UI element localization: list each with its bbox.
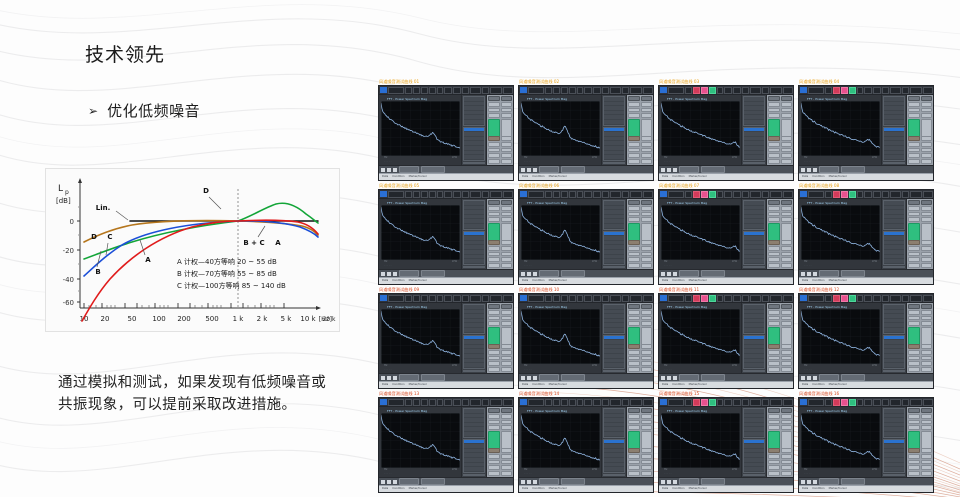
- keypad-key[interactable]: [781, 223, 793, 241]
- keypad-key[interactable]: [501, 310, 513, 315]
- spectrum-plot-panel[interactable]: FFT - Power Spectrum Mag HzkHz · · · · ·: [659, 303, 741, 373]
- keypad-key[interactable]: [501, 142, 513, 147]
- keypad-key[interactable]: [908, 310, 920, 315]
- measurement-window[interactable]: FFT - Power Spectrum Mag HzkHz · · · · ·: [658, 397, 794, 493]
- toolbar-button[interactable]: [437, 191, 443, 198]
- toolbar-button[interactable]: [643, 87, 653, 94]
- stop-button[interactable]: [801, 272, 805, 276]
- settings-group-top[interactable]: [883, 200, 905, 230]
- keypad-key[interactable]: [628, 102, 640, 107]
- toolbar-button[interactable]: [693, 295, 700, 302]
- toolbar-button[interactable]: [709, 87, 716, 94]
- keypad-key[interactable]: [908, 460, 920, 465]
- tab-memory[interactable]: [841, 478, 865, 485]
- toolbar-button[interactable]: [668, 399, 684, 406]
- keypad-key[interactable]: [781, 153, 793, 158]
- window-toolbar[interactable]: [519, 190, 653, 199]
- keypad-row[interactable]: [488, 206, 512, 211]
- keypad-key[interactable]: [641, 240, 653, 245]
- tab-memory[interactable]: [701, 270, 725, 277]
- toolbar-button[interactable]: [610, 399, 621, 406]
- keypad-key[interactable]: [921, 367, 933, 372]
- toolbar-button[interactable]: [528, 399, 544, 406]
- keypad-key[interactable]: [641, 465, 653, 470]
- window-transport-bar[interactable]: [519, 373, 653, 381]
- keypad-row[interactable]: [488, 119, 512, 135]
- keypad-row[interactable]: [488, 263, 512, 268]
- toolbar-button[interactable]: [857, 295, 863, 302]
- window-transport-bar[interactable]: [799, 373, 933, 381]
- keypad-row[interactable]: [488, 361, 512, 366]
- settings-group-top[interactable]: [463, 304, 485, 334]
- keypad-row[interactable]: [908, 252, 932, 257]
- control-row[interactable]: [604, 259, 624, 264]
- control-row[interactable]: [744, 432, 764, 437]
- keypad-key[interactable]: [501, 206, 513, 211]
- keypad-row[interactable]: [768, 159, 792, 164]
- keypad-row[interactable]: [908, 367, 932, 372]
- window-transport-bar[interactable]: [379, 373, 513, 381]
- plot-area[interactable]: [381, 101, 460, 156]
- stop-button[interactable]: [521, 272, 525, 276]
- keypad-key[interactable]: [501, 257, 513, 262]
- toolbar-button[interactable]: [429, 399, 436, 406]
- control-row[interactable]: [744, 259, 764, 264]
- keypad-key[interactable]: [768, 263, 780, 268]
- keypad-panel[interactable]: [486, 407, 513, 477]
- tab-memory[interactable]: [561, 478, 585, 485]
- keypad-panel[interactable]: [626, 95, 653, 165]
- keypad-key[interactable]: [908, 142, 920, 147]
- window-toolbar[interactable]: [519, 294, 653, 303]
- keypad-key[interactable]: [908, 257, 920, 262]
- toolbar-button[interactable]: [701, 399, 708, 406]
- keypad-key[interactable]: [501, 350, 513, 355]
- window-transport-bar[interactable]: [379, 165, 513, 173]
- window-transport-bar[interactable]: [659, 477, 793, 485]
- control-panel[interactable]: [461, 303, 486, 373]
- toolbar-button[interactable]: [602, 295, 609, 302]
- toolbar-button[interactable]: [577, 191, 583, 198]
- keypad-panel[interactable]: [486, 95, 513, 165]
- toolbar-button[interactable]: [577, 399, 583, 406]
- control-row[interactable]: [744, 120, 764, 125]
- keypad-row[interactable]: [488, 367, 512, 372]
- control-panel[interactable]: [601, 199, 626, 269]
- keypad-key[interactable]: [781, 240, 793, 245]
- toolbar-button[interactable]: [388, 399, 404, 406]
- toolbar-button[interactable]: [902, 87, 909, 94]
- tab-memory[interactable]: [841, 166, 865, 173]
- record-button[interactable]: [673, 480, 677, 484]
- measurement-window[interactable]: FFT - Power Spectrum Mag HzkHz · · · · ·: [378, 293, 514, 389]
- spectrum-plot-panel[interactable]: FFT - Power Spectrum Mag HzkHz · · · · ·: [379, 199, 461, 269]
- spectrum-plot-panel[interactable]: FFT - Power Spectrum Mag HzkHz · · · · ·: [379, 303, 461, 373]
- keypad-key[interactable]: [501, 361, 513, 366]
- keypad-key[interactable]: [768, 246, 780, 251]
- keypad-key[interactable]: [921, 316, 933, 321]
- keypad-key[interactable]: [641, 159, 653, 164]
- keypad-key[interactable]: [628, 425, 640, 430]
- toolbar-button[interactable]: [470, 191, 481, 198]
- keypad-key[interactable]: [628, 142, 640, 147]
- record-button[interactable]: [533, 376, 537, 380]
- keypad-key[interactable]: [768, 240, 780, 245]
- toolbar-button[interactable]: [561, 295, 568, 302]
- keypad-row[interactable]: [628, 367, 652, 372]
- run-button[interactable]: [628, 119, 640, 137]
- tab-start[interactable]: [819, 478, 839, 485]
- toolbar-button[interactable]: [923, 191, 933, 198]
- keypad-key[interactable]: [921, 96, 933, 101]
- keypad-key[interactable]: [488, 465, 500, 470]
- gallery-item[interactable]: 风道噪音测试曲线 11 FFT - Power Spectrum Mag: [658, 286, 792, 388]
- keypad-row[interactable]: [768, 304, 792, 309]
- keypad-key[interactable]: [501, 200, 513, 205]
- tab-start[interactable]: [679, 166, 699, 173]
- toolbar-button[interactable]: [733, 295, 741, 302]
- toolbar-button[interactable]: [770, 295, 782, 302]
- toolbar-button[interactable]: [388, 87, 404, 94]
- toolbar-button[interactable]: [750, 295, 761, 302]
- keypad-key[interactable]: [781, 96, 793, 101]
- keypad-row[interactable]: [908, 460, 932, 465]
- toolbar-button[interactable]: [733, 87, 741, 94]
- keypad-row[interactable]: [768, 102, 792, 107]
- window-transport-bar[interactable]: [519, 165, 653, 173]
- plot-area[interactable]: [381, 413, 460, 468]
- keypad-panel[interactable]: [626, 407, 653, 477]
- tab-memory[interactable]: [561, 166, 585, 173]
- keypad-key[interactable]: [908, 367, 920, 372]
- keypad-key[interactable]: [641, 223, 653, 241]
- tab-memory[interactable]: [841, 374, 865, 381]
- stop-button[interactable]: [661, 168, 665, 172]
- run-button[interactable]: [488, 223, 500, 241]
- stop-button[interactable]: [661, 480, 665, 484]
- tab-start[interactable]: [539, 166, 559, 173]
- keypad-key[interactable]: [628, 108, 640, 113]
- keypad-key[interactable]: [501, 316, 513, 321]
- toolbar-button[interactable]: [910, 191, 922, 198]
- toolbar-button[interactable]: [388, 191, 404, 198]
- toolbar-button[interactable]: [717, 191, 723, 198]
- keypad-key[interactable]: [768, 304, 780, 309]
- tab-memory[interactable]: [561, 374, 585, 381]
- toolbar-button[interactable]: [429, 295, 436, 302]
- keypad-key[interactable]: [488, 113, 500, 118]
- keypad-key[interactable]: [921, 119, 933, 137]
- keypad-key[interactable]: [501, 108, 513, 113]
- keypad-key[interactable]: [908, 108, 920, 113]
- keypad-key[interactable]: [628, 367, 640, 372]
- toolbar-button[interactable]: [429, 191, 436, 198]
- toolbar-button[interactable]: [864, 87, 872, 94]
- keypad-row[interactable]: [628, 153, 652, 158]
- keypad-key[interactable]: [488, 240, 500, 245]
- settings-group-top[interactable]: [463, 408, 485, 438]
- keypad-key[interactable]: [781, 217, 793, 222]
- keypad-key[interactable]: [781, 246, 793, 251]
- keypad-key[interactable]: [488, 257, 500, 262]
- control-row[interactable]: [464, 224, 484, 229]
- pause-button[interactable]: [387, 480, 391, 484]
- keypad-row[interactable]: [768, 206, 792, 211]
- toolbar-button[interactable]: [490, 399, 502, 406]
- keypad-key[interactable]: [768, 367, 780, 372]
- keypad-key[interactable]: [488, 108, 500, 113]
- keypad-key[interactable]: [921, 217, 933, 222]
- stop-button[interactable]: [661, 376, 665, 380]
- keypad-key[interactable]: [781, 200, 793, 205]
- toolbar-button[interactable]: [685, 399, 692, 406]
- keypad-key[interactable]: [641, 327, 653, 345]
- settings-group-top[interactable]: [743, 304, 765, 334]
- control-row[interactable]: [604, 224, 624, 229]
- toolbar-button[interactable]: [437, 399, 443, 406]
- keypad-key[interactable]: [628, 465, 640, 470]
- toolbar-button[interactable]: [841, 399, 848, 406]
- keypad-key[interactable]: [641, 119, 653, 137]
- toolbar-button[interactable]: [413, 295, 420, 302]
- toolbar-button[interactable]: [783, 295, 793, 302]
- keypad-row[interactable]: [908, 200, 932, 205]
- keypad-key[interactable]: [641, 361, 653, 366]
- keypad-panel[interactable]: [486, 199, 513, 269]
- keypad-key[interactable]: [488, 246, 500, 251]
- toolbar-button[interactable]: [437, 295, 443, 302]
- toolbar-button[interactable]: [528, 191, 544, 198]
- gallery-item[interactable]: 风道噪音测试曲线 10 FFT - Power Spectrum Mag: [518, 286, 652, 388]
- keypad-row[interactable]: [488, 344, 512, 349]
- keypad-key[interactable]: [641, 257, 653, 262]
- measurement-window[interactable]: FFT - Power Spectrum Mag HzkHz · · · · ·: [518, 397, 654, 493]
- keypad-key[interactable]: [488, 356, 500, 361]
- keypad-row[interactable]: [628, 108, 652, 113]
- keypad-key[interactable]: [908, 246, 920, 251]
- toolbar-button[interactable]: [724, 399, 732, 406]
- keypad-row[interactable]: [628, 240, 652, 245]
- keypad-key[interactable]: [921, 153, 933, 158]
- toolbar-button[interactable]: [808, 191, 824, 198]
- keypad-row[interactable]: [628, 471, 652, 476]
- keypad-key[interactable]: [501, 217, 513, 222]
- toolbar-button[interactable]: [733, 191, 741, 198]
- toolbar-button[interactable]: [742, 399, 749, 406]
- window-toolbar[interactable]: [659, 398, 793, 407]
- keypad-row[interactable]: [908, 108, 932, 113]
- keypad-key[interactable]: [908, 102, 920, 107]
- toolbar-button[interactable]: [561, 191, 568, 198]
- keypad-key[interactable]: [501, 321, 513, 326]
- spectrum-plot-panel[interactable]: FFT - Power Spectrum Mag HzkHz · · · · ·: [659, 199, 741, 269]
- keypad-key[interactable]: [488, 361, 500, 366]
- pause-button[interactable]: [807, 376, 811, 380]
- toolbar-button[interactable]: [882, 191, 889, 198]
- keypad-key[interactable]: [641, 153, 653, 158]
- gallery-item[interactable]: 风道噪音测试曲线 16 FFT - Power Spectrum Mag: [798, 390, 932, 492]
- toolbar-button[interactable]: [610, 191, 621, 198]
- toolbar-button[interactable]: [470, 87, 481, 94]
- window-toolbar[interactable]: [799, 190, 933, 199]
- window-transport-bar[interactable]: [659, 373, 793, 381]
- measurement-window[interactable]: FFT - Power Spectrum Mag HzkHz · · · · ·: [798, 189, 934, 285]
- keypad-row[interactable]: [628, 159, 652, 164]
- keypad-key[interactable]: [501, 425, 513, 430]
- keypad-key[interactable]: [908, 96, 920, 101]
- control-panel[interactable]: [461, 95, 486, 165]
- toolbar-button[interactable]: [584, 191, 592, 198]
- keypad-key[interactable]: [488, 448, 500, 453]
- control-row[interactable]: [464, 467, 484, 472]
- toolbar-button[interactable]: [388, 295, 404, 302]
- keypad-row[interactable]: [488, 102, 512, 107]
- keypad-row[interactable]: [628, 246, 652, 251]
- toolbar-button[interactable]: [444, 191, 452, 198]
- keypad-key[interactable]: [628, 240, 640, 245]
- toolbar-button[interactable]: [561, 399, 568, 406]
- keypad-key[interactable]: [628, 321, 640, 326]
- run-button[interactable]: [768, 431, 780, 449]
- keypad-key[interactable]: [781, 257, 793, 262]
- keypad-key[interactable]: [921, 240, 933, 245]
- tab-memory[interactable]: [561, 270, 585, 277]
- keypad-row[interactable]: [628, 119, 652, 135]
- keypad-row[interactable]: [768, 344, 792, 349]
- keypad-key[interactable]: [641, 350, 653, 355]
- keypad-row[interactable]: [768, 356, 792, 361]
- keypad-key[interactable]: [628, 310, 640, 315]
- toolbar-button[interactable]: [470, 399, 481, 406]
- keypad-row[interactable]: [488, 200, 512, 205]
- toolbar-button[interactable]: [622, 191, 629, 198]
- toolbar-button[interactable]: [490, 87, 502, 94]
- keypad-key[interactable]: [908, 263, 920, 268]
- pause-button[interactable]: [387, 376, 391, 380]
- toolbar-button[interactable]: [783, 399, 793, 406]
- keypad-key[interactable]: [908, 414, 920, 419]
- spectrum-plot-panel[interactable]: FFT - Power Spectrum Mag HzkHz · · · · ·: [519, 95, 601, 165]
- toolbar-button[interactable]: [593, 191, 601, 198]
- toolbar-button[interactable]: [602, 191, 609, 198]
- keypad-key[interactable]: [488, 200, 500, 205]
- keypad-row[interactable]: [768, 119, 792, 135]
- window-toolbar[interactable]: [379, 86, 513, 95]
- keypad-row[interactable]: [628, 136, 652, 141]
- toolbar-button[interactable]: [762, 399, 769, 406]
- toolbar-button[interactable]: [569, 295, 576, 302]
- keypad-key[interactable]: [628, 217, 640, 222]
- toolbar-button[interactable]: [577, 87, 583, 94]
- toolbar-button[interactable]: [890, 295, 901, 302]
- keypad-key[interactable]: [768, 310, 780, 315]
- keypad-key[interactable]: [488, 321, 500, 326]
- keypad-row[interactable]: [908, 420, 932, 425]
- settings-group-mid[interactable]: [743, 439, 765, 473]
- keypad-key[interactable]: [921, 257, 933, 262]
- control-panel[interactable]: [741, 95, 766, 165]
- keypad-key[interactable]: [908, 471, 920, 476]
- keypad-key[interactable]: [768, 356, 780, 361]
- keypad-key[interactable]: [781, 420, 793, 425]
- toolbar-button[interactable]: [825, 87, 832, 94]
- keypad-key[interactable]: [781, 344, 793, 349]
- keypad-key[interactable]: [628, 344, 640, 349]
- keypad-row[interactable]: [488, 108, 512, 113]
- keypad-key[interactable]: [908, 361, 920, 366]
- keypad-row[interactable]: [488, 304, 512, 309]
- toolbar-button[interactable]: [437, 87, 443, 94]
- control-row[interactable]: [604, 120, 624, 125]
- keypad-key[interactable]: [641, 108, 653, 113]
- keypad-key[interactable]: [488, 408, 500, 413]
- toolbar-button[interactable]: [701, 295, 708, 302]
- keypad-key[interactable]: [781, 252, 793, 257]
- toolbar-button[interactable]: [453, 399, 461, 406]
- keypad-key[interactable]: [641, 425, 653, 430]
- keypad-key[interactable]: [781, 361, 793, 366]
- measurement-window[interactable]: FFT - Power Spectrum Mag HzkHz · · · · ·: [798, 293, 934, 389]
- toolbar-button[interactable]: [693, 399, 700, 406]
- toolbar-button[interactable]: [482, 191, 489, 198]
- keypad-key[interactable]: [501, 460, 513, 465]
- keypad-key[interactable]: [641, 252, 653, 257]
- stop-button[interactable]: [521, 480, 525, 484]
- toolbar-button[interactable]: [622, 295, 629, 302]
- keypad-key[interactable]: [768, 113, 780, 118]
- control-row[interactable]: [464, 120, 484, 125]
- toolbar-button[interactable]: [873, 87, 881, 94]
- keypad-key[interactable]: [768, 142, 780, 147]
- keypad-key[interactable]: [781, 304, 793, 309]
- keypad-key[interactable]: [641, 420, 653, 425]
- keypad-row[interactable]: [768, 327, 792, 343]
- toolbar-button[interactable]: [910, 295, 922, 302]
- toolbar-button[interactable]: [857, 191, 863, 198]
- keypad-row[interactable]: [908, 327, 932, 343]
- toolbar-button[interactable]: [413, 399, 420, 406]
- toolbar-button[interactable]: [593, 295, 601, 302]
- tab-start[interactable]: [399, 374, 419, 381]
- keypad-key[interactable]: [628, 304, 640, 309]
- run-button[interactable]: [908, 223, 920, 241]
- keypad-key[interactable]: [908, 408, 920, 413]
- keypad-row[interactable]: [628, 408, 652, 413]
- gallery-item[interactable]: 风道噪音测试曲线 09 FFT - Power Spectrum Mag: [378, 286, 512, 388]
- keypad-key[interactable]: [768, 212, 780, 217]
- keypad-key[interactable]: [781, 263, 793, 268]
- keypad-key[interactable]: [781, 108, 793, 113]
- toolbar-button[interactable]: [405, 295, 412, 302]
- keypad-row[interactable]: [908, 316, 932, 321]
- spectrum-plot-panel[interactable]: FFT - Power Spectrum Mag HzkHz · · · · ·: [659, 407, 741, 477]
- record-button[interactable]: [813, 272, 817, 276]
- control-row[interactable]: [464, 432, 484, 437]
- keypad-row[interactable]: [768, 425, 792, 430]
- keypad-key[interactable]: [768, 350, 780, 355]
- toolbar-button[interactable]: [685, 191, 692, 198]
- keypad-key[interactable]: [768, 136, 780, 141]
- pause-button[interactable]: [667, 168, 671, 172]
- keypad-key[interactable]: [781, 471, 793, 476]
- keypad-row[interactable]: [488, 246, 512, 251]
- keypad-panel[interactable]: [766, 303, 793, 373]
- tab-memory[interactable]: [701, 166, 725, 173]
- keypad-row[interactable]: [908, 96, 932, 101]
- measurement-window[interactable]: FFT - Power Spectrum Mag HzkHz · · · · ·: [518, 85, 654, 181]
- settings-group-top[interactable]: [883, 304, 905, 334]
- gallery-item[interactable]: 风道噪音测试曲线 12 FFT - Power Spectrum Mag: [798, 286, 932, 388]
